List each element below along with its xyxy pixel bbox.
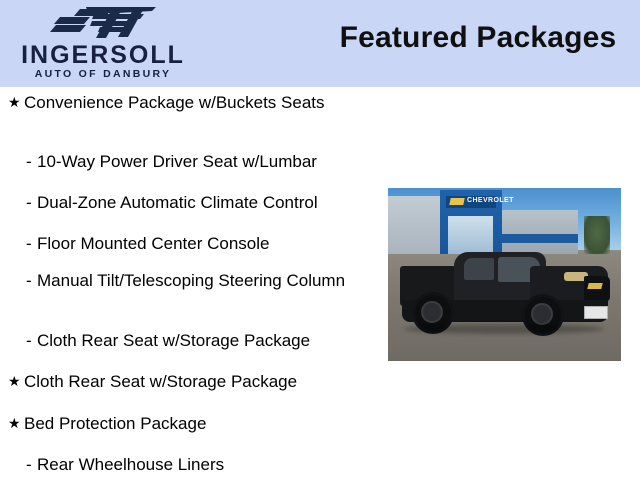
star-bullet-icon: ★ <box>8 413 24 434</box>
truck-grille <box>584 276 610 302</box>
dash-bullet-icon: - <box>26 233 37 254</box>
brand-tagline: AUTO OF DANBURY <box>7 69 199 80</box>
truck-rear-rim <box>421 301 443 323</box>
photo-dealership-glass <box>448 216 493 254</box>
dash-bullet-icon: - <box>26 330 37 351</box>
star-bullet-icon: ★ <box>8 371 24 392</box>
dash-bullet-icon: - <box>26 151 37 172</box>
photo-building-right-stripe <box>500 234 578 243</box>
brand-logo-block[interactable]: INGERSOLL AUTO OF DANBURY <box>0 2 205 84</box>
feature-item-label: Bed Protection Package <box>24 413 206 434</box>
ingersoll-winged-emblem-icon <box>48 6 160 40</box>
brand-wordmark: INGERSOLL <box>7 43 199 68</box>
feature-item: ★Cloth Rear Seat w/Storage Package <box>0 371 390 392</box>
photo-building-left <box>388 196 446 254</box>
feature-item-label: Floor Mounted Center Console <box>37 233 269 254</box>
photo-tree <box>584 216 610 254</box>
truck-license-plate <box>584 306 608 319</box>
feature-item-label: Cloth Rear Seat w/Storage Package <box>37 330 310 351</box>
feature-item: -10-Way Power Driver Seat w/Lumbar <box>0 151 408 172</box>
feature-item-label: 10-Way Power Driver Seat w/Lumbar <box>37 151 317 172</box>
chevrolet-bowtie-icon <box>449 198 464 205</box>
star-bullet-icon: ★ <box>8 92 24 113</box>
feature-item: -Floor Mounted Center Console <box>0 233 408 254</box>
truck-bowtie-emblem-icon <box>587 283 602 289</box>
feature-item-label: Dual-Zone Automatic Climate Control <box>37 192 318 213</box>
feature-list: ★Convenience Package w/Buckets Seats-10-… <box>0 88 382 480</box>
page-title: Featured Packages <box>330 20 626 56</box>
feature-item-label: Manual Tilt/Telescoping Steering Column <box>37 270 345 291</box>
dash-bullet-icon: - <box>26 192 37 213</box>
truck-rear-window <box>464 258 494 280</box>
vehicle-photo: CHEVROLET <box>388 188 621 361</box>
feature-item-label: Cloth Rear Seat w/Storage Package <box>24 371 297 392</box>
feature-item: -Dual-Zone Automatic Climate Control <box>0 192 408 213</box>
feature-item: ★Bed Protection Package <box>0 413 390 434</box>
feature-item: -Cloth Rear Seat w/Storage Package <box>0 330 408 351</box>
feature-item-label: Convenience Package w/Buckets Seats <box>24 92 325 113</box>
header-band: INGERSOLL AUTO OF DANBURY Featured Packa… <box>0 0 640 87</box>
photo-building-right <box>500 210 578 254</box>
feature-item: ★Convenience Package w/Buckets Seats <box>0 92 390 113</box>
feature-item: -Rear Wheelhouse Liners <box>0 454 408 475</box>
photo-dealer-sign-text: CHEVROLET <box>467 197 514 204</box>
truck-shadow <box>404 324 604 334</box>
dash-bullet-icon: - <box>26 454 37 475</box>
dash-bullet-icon: - <box>26 270 37 291</box>
feature-item-label: Rear Wheelhouse Liners <box>37 454 224 475</box>
truck-front-rim <box>531 303 553 325</box>
feature-item: -Manual Tilt/Telescoping Steering Column <box>0 270 408 291</box>
